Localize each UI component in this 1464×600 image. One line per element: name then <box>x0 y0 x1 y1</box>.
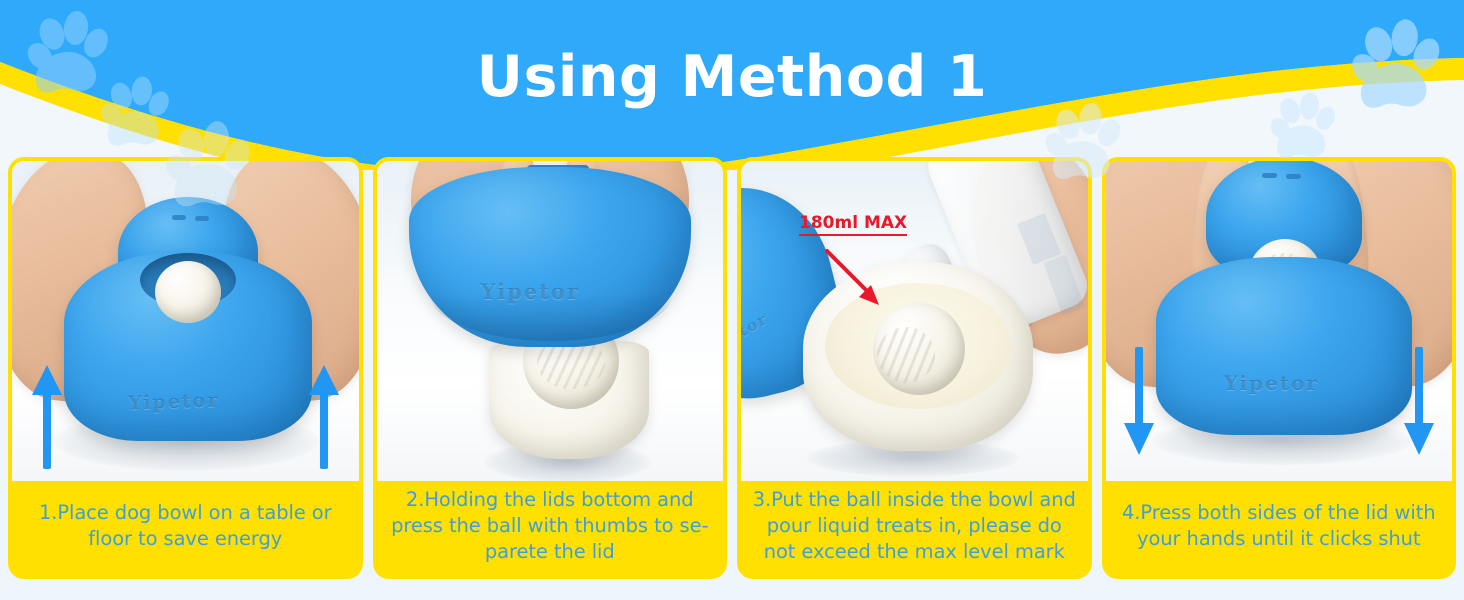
arrow-up-left-icon <box>30 363 64 469</box>
steps-row: Yipetor <box>8 157 1456 579</box>
step-panel-4: Yipetor <box>1102 157 1457 579</box>
arrow-up-right-icon <box>307 363 341 469</box>
step-4-photo: Yipetor <box>1106 161 1453 481</box>
step-2-photo: Yipetor <box>377 161 724 481</box>
step-panel-2: Yipetor 2.Holding the lids bottom and pr… <box>373 157 728 579</box>
paw-print-icon <box>1040 100 1126 186</box>
step-panel-3: etor <box>737 157 1092 579</box>
arrow-down-right-icon <box>1402 347 1436 457</box>
arrow-down-left-icon <box>1122 347 1156 457</box>
step-3-photo: etor <box>741 161 1088 481</box>
brand-emboss-label: Yipetor <box>1224 371 1319 395</box>
step-2-caption-text: 2.Holding the lids bottom and press the … <box>384 487 717 564</box>
instruction-infographic: Using Method 1 <box>0 0 1464 600</box>
step-1-caption: 1.Place dog bowl on a table or floor to … <box>12 481 359 575</box>
vent-slot-icon <box>1262 173 1277 178</box>
paw-print-icon <box>160 118 256 214</box>
step-1-caption-text: 1.Place dog bowl on a table or floor to … <box>19 500 352 551</box>
vent-slot-icon <box>195 216 209 221</box>
step-2-caption: 2.Holding the lids bottom and press the … <box>377 481 724 575</box>
step-panel-1: Yipetor <box>8 157 363 579</box>
step-3-caption-text: 3.Put the ball inside the bowl and pour … <box>748 487 1081 564</box>
step-3-caption: 3.Put the ball inside the bowl and pour … <box>741 481 1088 575</box>
step-4-caption-text: 4.Press both sides of the lid with your … <box>1113 500 1446 551</box>
vent-slot-icon <box>1286 174 1301 179</box>
brand-emboss-label: Yipetor <box>481 279 580 304</box>
arrow-pointer-red-icon <box>821 245 891 315</box>
ball-texture <box>877 327 935 383</box>
page-title: Using Method 1 <box>0 44 1464 111</box>
max-level-annotation: 180ml MAX <box>799 213 907 236</box>
brand-emboss-label: Yipetor <box>128 389 220 414</box>
dog-bowl-body <box>1156 257 1412 435</box>
step-4-caption: 4.Press both sides of the lid with your … <box>1106 481 1453 575</box>
treat-ball-front <box>155 261 221 323</box>
vent-slot-icon <box>172 215 186 220</box>
